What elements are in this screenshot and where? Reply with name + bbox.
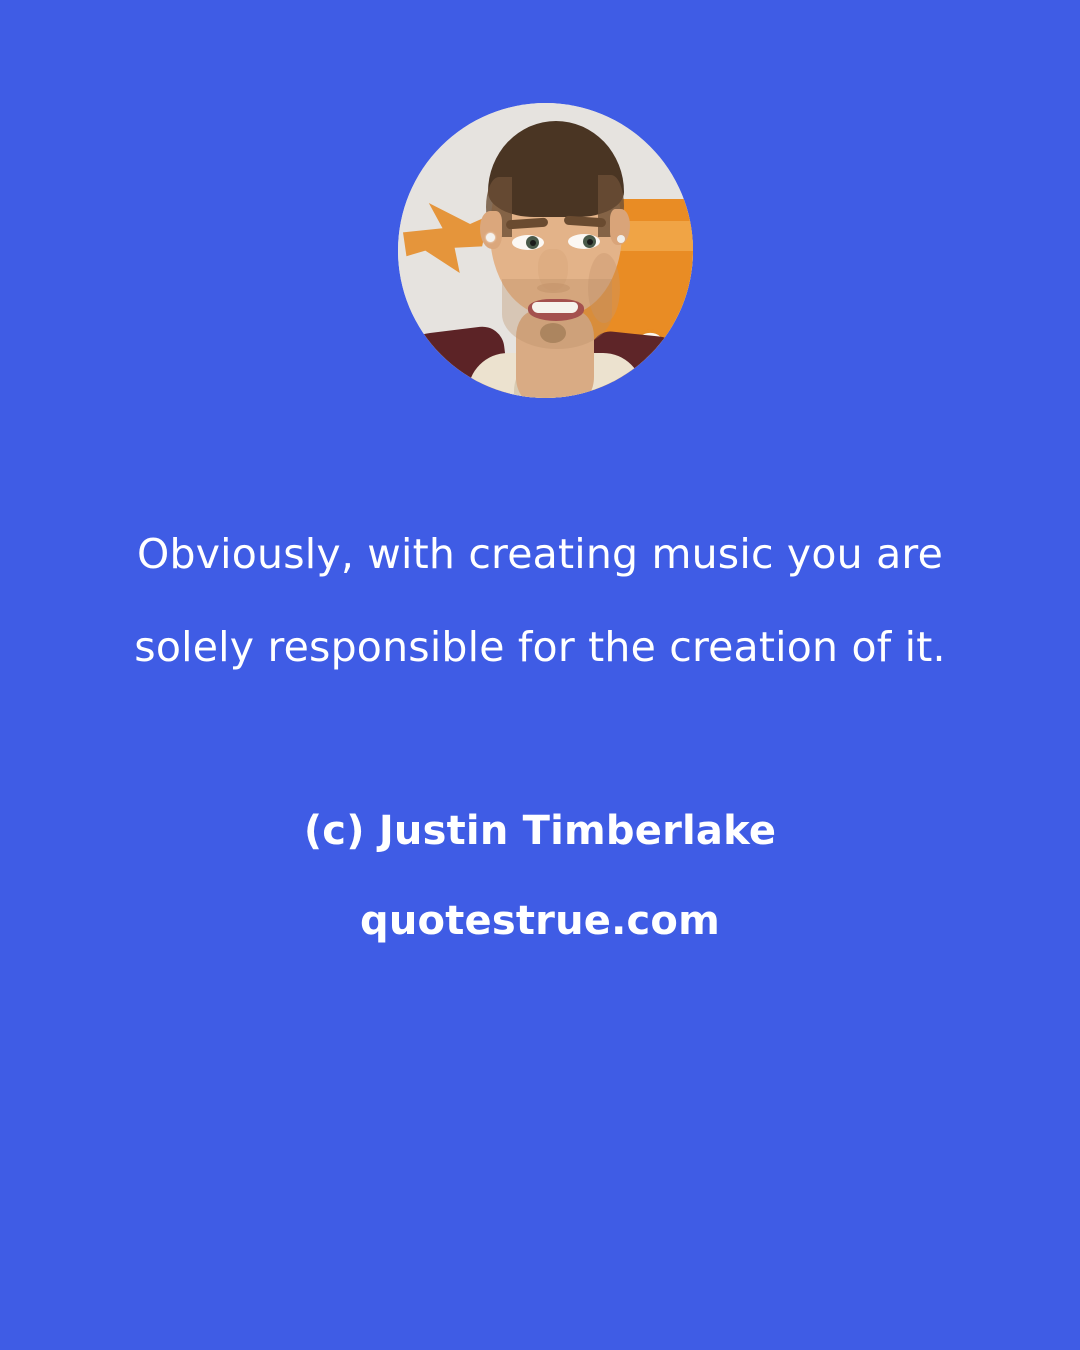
pupil-right	[587, 239, 593, 245]
quote-text: Obviously, with creating music you are s…	[0, 508, 1080, 694]
site-watermark: quotestrue.com	[0, 898, 1080, 944]
teeth	[532, 302, 578, 313]
ear-left	[480, 211, 502, 249]
quote-card: LOD	[0, 0, 1080, 1350]
iris-right	[583, 235, 596, 248]
eye-left	[512, 235, 544, 250]
earring-right-icon	[617, 235, 625, 243]
portrait-photo-icon: LOD	[398, 103, 693, 398]
eye-right	[568, 234, 600, 249]
chin-soul-patch	[540, 323, 566, 343]
avatar: LOD	[398, 103, 693, 398]
pupil-left	[530, 240, 536, 246]
iris-left	[526, 236, 539, 249]
earring-left-icon	[486, 233, 495, 242]
quote-attribution: (c) Justin Timberlake	[0, 808, 1080, 854]
